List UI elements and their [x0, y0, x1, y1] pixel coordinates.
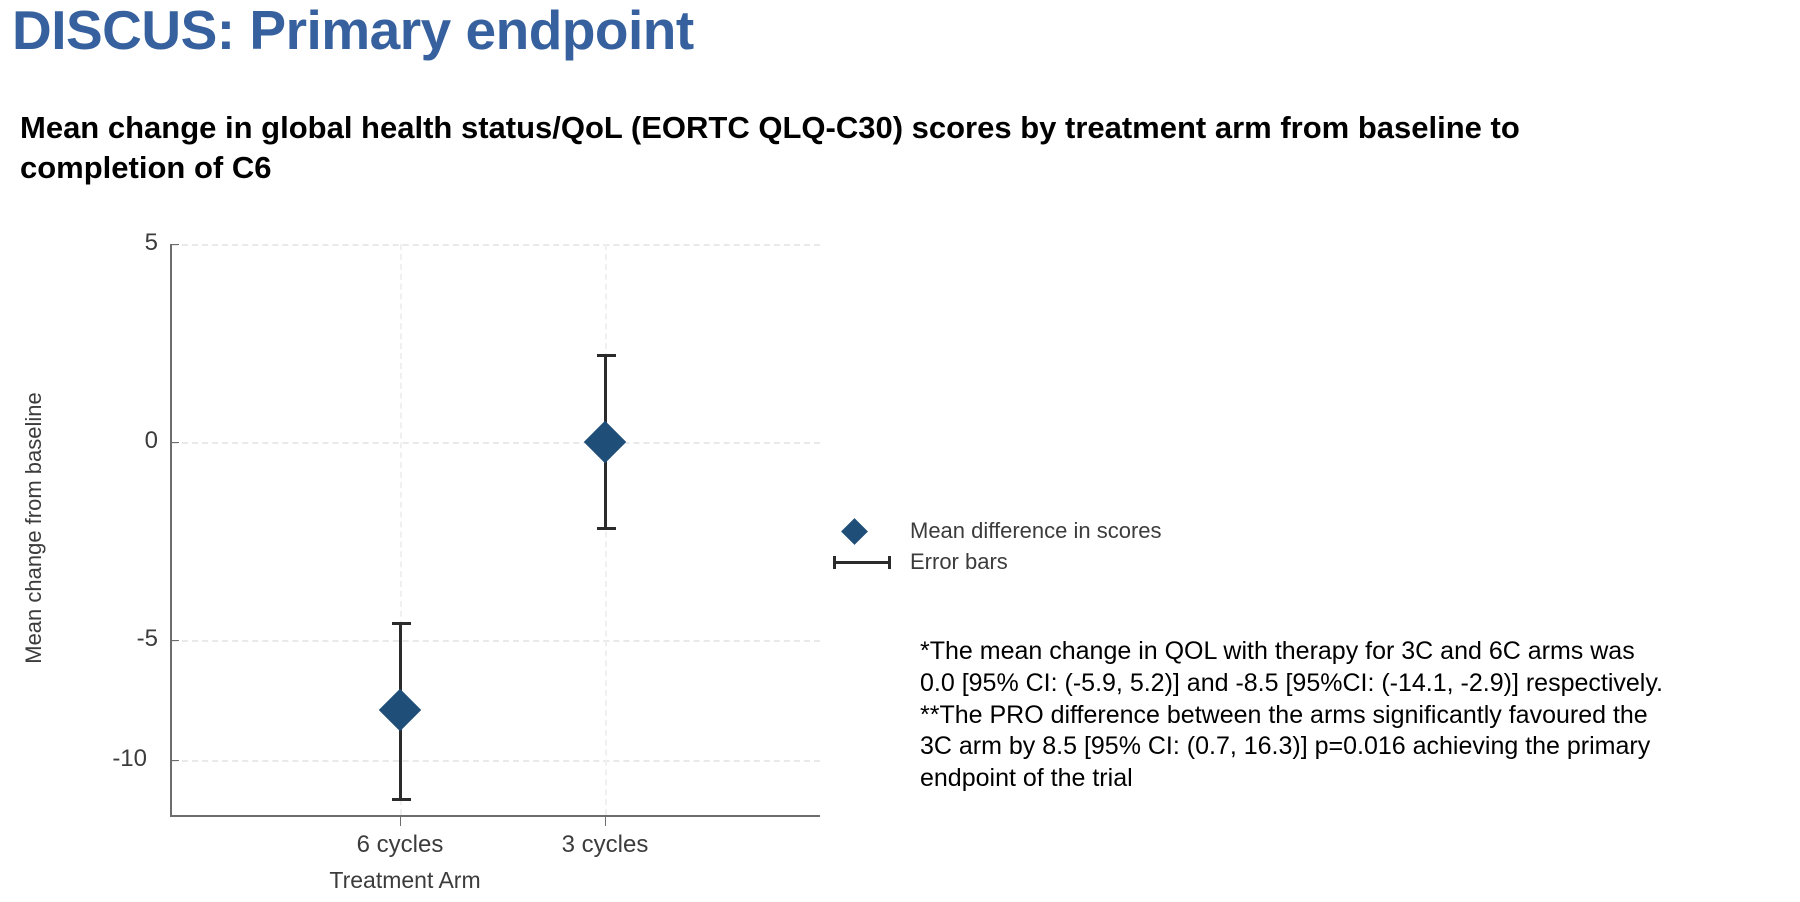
footnote-line-4: 3C arm by 8.5 [95% CI: (0.7, 16.3)] p=0.… [920, 731, 1780, 763]
x-axis-line [170, 815, 820, 817]
gridline-y--10 [172, 760, 820, 762]
error-bar-bottom-cap-3-cycles [597, 527, 616, 530]
y-tick-label-5: 5 [112, 229, 158, 257]
footnote-line-2: 0.0 [95% CI: (-5.9, 5.2)] and -8.5 [95%C… [920, 668, 1780, 700]
footnote-line-3: **The PRO difference between the arms si… [920, 700, 1780, 732]
x-axis-label: Treatment Arm [170, 867, 640, 894]
data-point-3-cycles [584, 421, 626, 463]
y-tickmark-0 [170, 442, 179, 443]
error-bar-top-cap-3-cycles [597, 354, 616, 357]
y-tick-label-0: 0 [112, 427, 158, 455]
page-title: DISCUS: Primary endpoint [12, 2, 694, 60]
error-bar-top-cap-6-cycles [392, 622, 411, 625]
x-tick-label-6-cycles: 6 cycles [300, 831, 500, 859]
chart-figure: Mean change from baseline 5 0 -5 -10 6 c… [0, 215, 900, 902]
x-tick-label-3-cycles: 3 cycles [505, 831, 705, 859]
legend-label-error-bars: Error bars [910, 549, 1008, 575]
footnote-line-1: *The mean change in QOL with therapy for… [920, 636, 1780, 668]
y-tick-label--10: -10 [101, 745, 147, 773]
gridline-y--5 [172, 640, 820, 642]
y-tick-label--5: -5 [112, 625, 158, 653]
x-tickmark-6-cycles [400, 815, 401, 826]
y-tickmark--10 [170, 760, 179, 761]
gridline-y-0 [172, 442, 820, 444]
legend-label-mean-difference: Mean difference in scores [910, 518, 1162, 544]
y-axis-line [170, 244, 172, 816]
y-axis-label: Mean change from baseline [21, 328, 47, 728]
data-point-6-cycles [379, 689, 421, 731]
footnote-line-5: endpoint of the trial [920, 763, 1780, 795]
x-tickmark-3-cycles [605, 815, 606, 826]
error-bar-bottom-cap-6-cycles [392, 798, 411, 801]
gridline-y-5 [172, 244, 820, 246]
error-bar-icon [833, 561, 891, 564]
y-tickmark--5 [170, 640, 179, 641]
y-tickmark-5 [170, 244, 179, 245]
chart-subtitle: Mean change in global health status/QoL … [20, 108, 1560, 187]
footnote-block: *The mean change in QOL with therapy for… [920, 636, 1780, 795]
